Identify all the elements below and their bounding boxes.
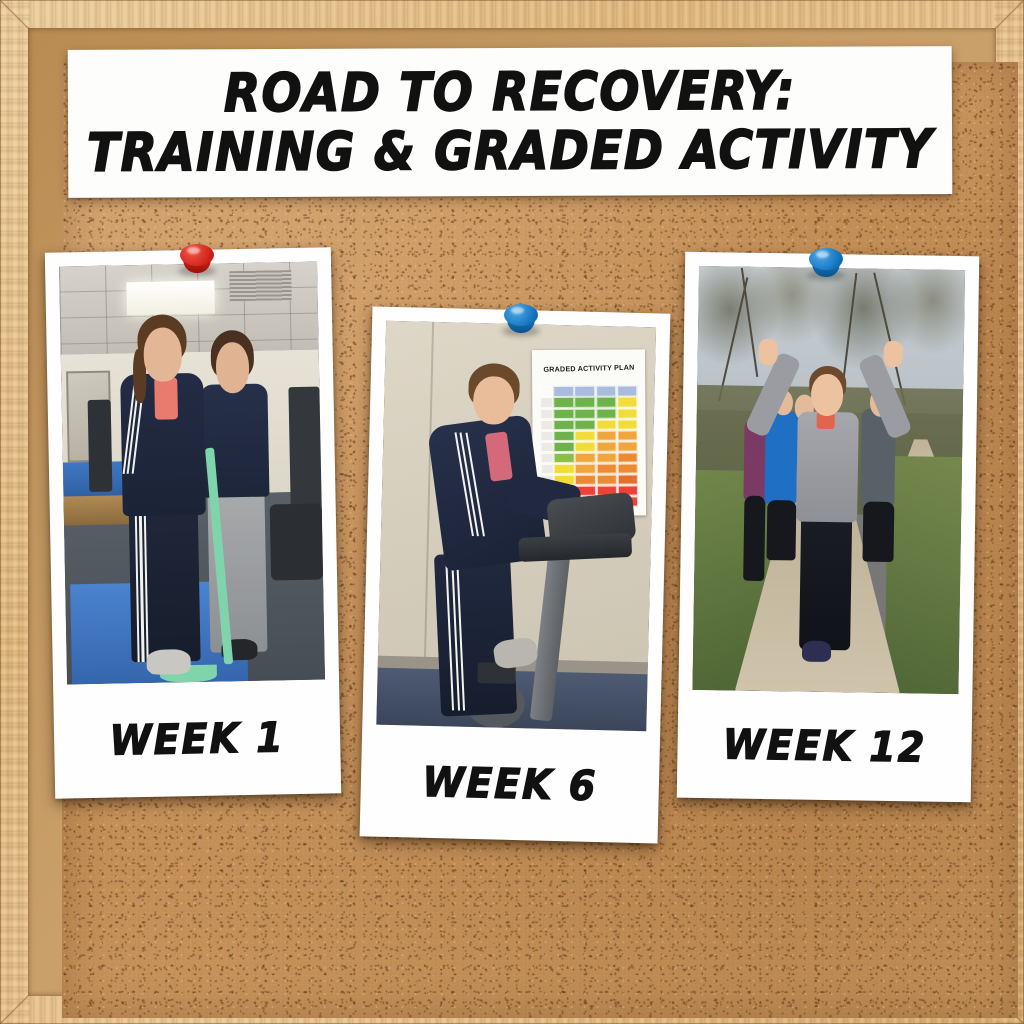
poster-column-header: [574, 386, 595, 397]
poster-grid-cell: [617, 474, 638, 485]
main-runner-left-fist: [759, 339, 778, 365]
poster-row-label: [540, 453, 553, 464]
ceiling-vent: [229, 270, 291, 300]
poster-grid-cell: [575, 464, 596, 475]
poster-column-header: [617, 386, 638, 397]
red-pushpin[interactable]: [176, 242, 218, 282]
bulletin-board-frame: ROAD TO RECOVERY: TRAINING & GRADED ACTI…: [0, 0, 1024, 1024]
poster-grid-cell: [596, 464, 617, 475]
caption-week6: WEEK 6: [373, 720, 646, 848]
poster-grid-cell: [596, 441, 617, 452]
photo-week1: [59, 262, 325, 685]
poster-title: GRADED ACTIVITY PLAN: [542, 362, 634, 373]
polaroid-week12[interactable]: WEEK 12: [677, 252, 980, 803]
poster-grid-cell: [617, 463, 638, 474]
main-runner-leggings: [799, 513, 852, 649]
poster-column-header: [595, 386, 616, 397]
poster-grid-cell: [553, 431, 574, 442]
patient-shoes: [146, 649, 190, 675]
blue-pushpin-week12[interactable]: [805, 246, 847, 286]
poster-grid-cell: [574, 431, 595, 442]
poster-row-label: [540, 464, 553, 475]
title-line-2: TRAINING & GRADED ACTIVITY: [87, 123, 933, 179]
poster-grid-cell: [617, 408, 638, 419]
poster-grid-cell: [617, 441, 638, 452]
rider-head: [473, 375, 515, 424]
caption-week1: WEEK 1: [67, 675, 327, 803]
poster-grid-cell: [553, 453, 574, 464]
title-line-1: ROAD TO RECOVERY:: [224, 65, 796, 120]
poster-column-header: [553, 387, 574, 398]
title-banner: ROAD TO RECOVERY: TRAINING & GRADED ACTI…: [68, 46, 953, 198]
therapist-head: [215, 342, 249, 393]
poster-row-label: [540, 420, 553, 431]
main-runner-right-fist: [884, 341, 903, 367]
poster-grid-cell: [575, 453, 596, 464]
patient-head: [143, 327, 183, 382]
gym-equipment-left: [87, 399, 112, 491]
frame-rail-left: [0, 0, 30, 1024]
grass-right: [884, 455, 962, 694]
poster-grid-cell: [596, 453, 617, 464]
ceiling-light: [126, 280, 214, 315]
poster-grid-cell: [596, 430, 617, 441]
poster-grid-cell: [553, 420, 574, 431]
runner-purple-legs: [743, 496, 766, 581]
poster-grid-cell: [595, 408, 616, 419]
polaroid-week1[interactable]: WEEK 1: [45, 247, 341, 798]
poster-grid-corner: [540, 387, 553, 398]
polaroid-week6[interactable]: GRADED ACTIVITY PLAN WEEK 6: [360, 306, 671, 843]
poster-grid-cell: [617, 452, 638, 463]
poster-row-label: [540, 431, 553, 442]
patient-inner-shirt: [154, 377, 178, 419]
poster-grid-cell: [553, 464, 574, 475]
poster-grid-cell: [617, 419, 638, 430]
poster-grid-cell: [553, 398, 574, 409]
caption-week12: WEEK 12: [691, 686, 959, 807]
poster-grid-cell: [575, 475, 596, 486]
poster-row-label: [540, 442, 553, 453]
poster-grid-cell: [595, 397, 616, 408]
gym-equipment-corner: [270, 504, 323, 580]
poster-row-label: [540, 398, 553, 409]
poster-grid-cell: [575, 442, 596, 453]
main-runner-shoe: [802, 641, 832, 663]
poster-grid-cell: [596, 475, 617, 486]
runner-blue-shorts: [766, 500, 796, 560]
poster-grid-cell: [617, 397, 638, 408]
poster-grid-cell: [574, 420, 595, 431]
photo-week12: [692, 266, 965, 694]
poster-grid-cell: [553, 442, 574, 453]
poster-grid-cell: [553, 409, 574, 420]
photo-week6: GRADED ACTIVITY PLAN: [376, 321, 656, 731]
poster-row-label: [540, 409, 553, 420]
poster-grid-cell: [574, 408, 595, 419]
poster-grid-cell: [596, 419, 617, 430]
poster-grid-cell: [574, 397, 595, 408]
runner-grey-shorts: [862, 502, 895, 562]
blue-pushpin-week6[interactable]: [500, 302, 542, 342]
poster-grid-cell: [617, 430, 638, 441]
